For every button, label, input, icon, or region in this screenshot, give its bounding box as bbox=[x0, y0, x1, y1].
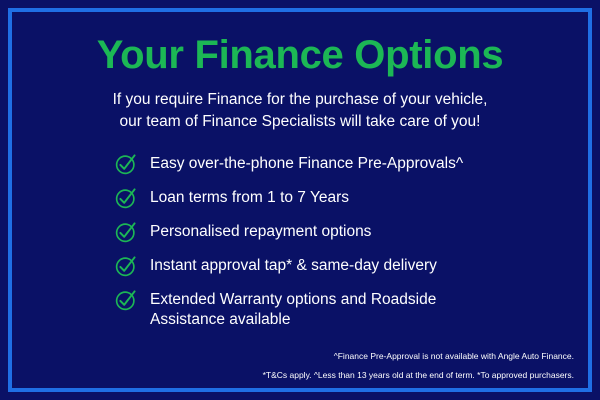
feature-list: Easy over-the-phone Finance Pre-Approval… bbox=[26, 133, 574, 331]
list-item-line: Assistance available bbox=[150, 310, 436, 330]
check-circle-icon bbox=[114, 186, 138, 210]
check-circle-icon bbox=[114, 288, 138, 312]
check-circle-icon bbox=[114, 152, 138, 176]
banner-subtitle: If you require Finance for the purchase … bbox=[26, 76, 574, 133]
list-item-line: Easy over-the-phone Finance Pre-Approval… bbox=[150, 154, 463, 174]
list-item-line: Personalised repayment options bbox=[150, 222, 371, 242]
list-item-label: Loan terms from 1 to 7 Years bbox=[150, 187, 349, 208]
fineprint-line: *T&Cs apply. ^Less than 13 years old at … bbox=[263, 370, 574, 380]
list-item: Loan terms from 1 to 7 Years bbox=[114, 187, 574, 211]
list-item-label: Personalised repayment options bbox=[150, 221, 371, 242]
check-circle-icon bbox=[114, 254, 138, 278]
finance-options-banner: Your Finance Options If you require Fina… bbox=[0, 0, 600, 400]
list-item-line: Instant approval tap* & same-day deliver… bbox=[150, 256, 437, 276]
list-item: Personalised repayment options bbox=[114, 221, 574, 245]
list-item-label: Easy over-the-phone Finance Pre-Approval… bbox=[150, 153, 463, 174]
list-item-line: Loan terms from 1 to 7 Years bbox=[150, 188, 349, 208]
list-item: Extended Warranty options and Roadside A… bbox=[114, 289, 574, 331]
fineprint-line: ^Finance Pre-Approval is not available w… bbox=[263, 351, 574, 361]
list-item-line: Extended Warranty options and Roadside bbox=[150, 290, 436, 310]
list-item-label: Extended Warranty options and Roadside A… bbox=[150, 289, 436, 331]
fineprint-disclaimer: ^Finance Pre-Approval is not available w… bbox=[263, 342, 574, 380]
list-item-label: Instant approval tap* & same-day deliver… bbox=[150, 255, 437, 276]
check-circle-icon bbox=[114, 220, 138, 244]
banner-content: Your Finance Options If you require Fina… bbox=[12, 12, 588, 388]
subtitle-line: If you require Finance for the purchase … bbox=[26, 89, 574, 111]
subtitle-line: our team of Finance Specialists will tak… bbox=[26, 111, 574, 133]
list-item: Instant approval tap* & same-day deliver… bbox=[114, 255, 574, 279]
page-title: Your Finance Options bbox=[26, 12, 574, 76]
list-item: Easy over-the-phone Finance Pre-Approval… bbox=[114, 153, 574, 177]
banner-border-frame: Your Finance Options If you require Fina… bbox=[8, 8, 592, 392]
